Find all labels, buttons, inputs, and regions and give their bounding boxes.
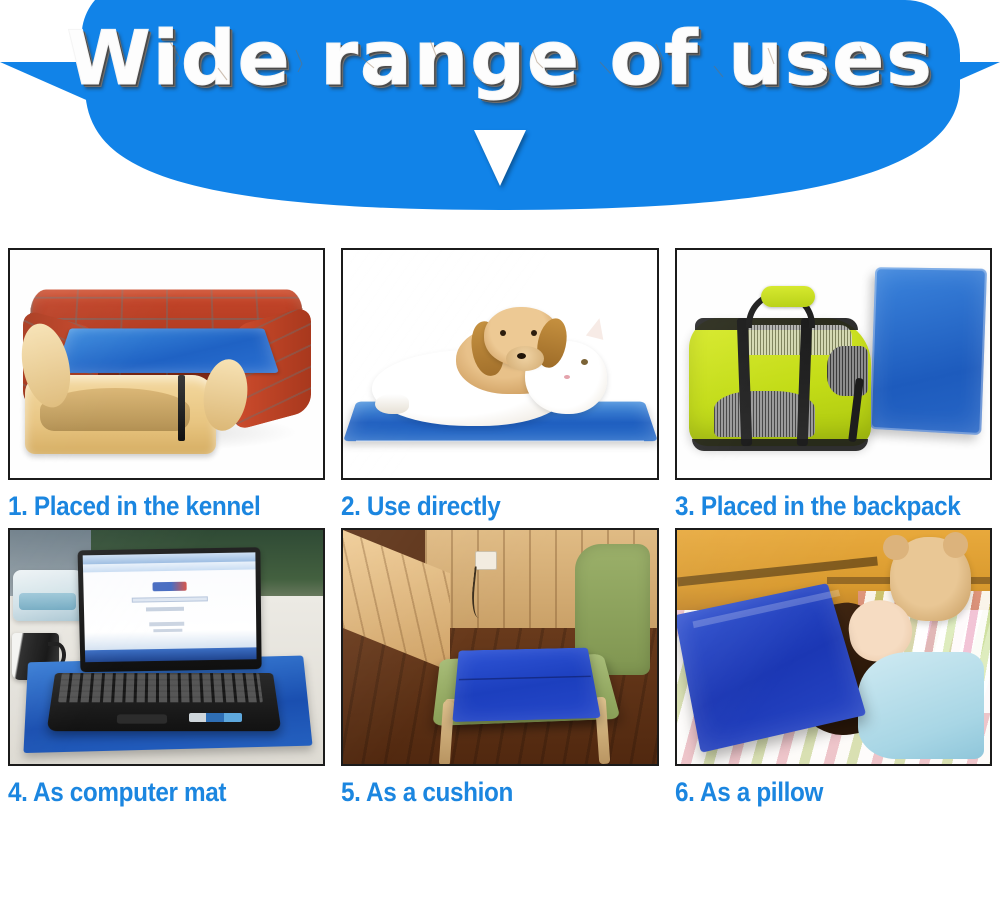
use-case-1: 1. Placed in the kennel	[0, 248, 333, 528]
use-case-3: 3. Placed in the backpack	[667, 248, 1000, 528]
cooling-mat	[452, 648, 600, 723]
grid-row-top: 1. Placed in the kennel	[0, 248, 1000, 528]
photo-laptop-mat	[8, 528, 325, 766]
photo-pet-bed-kennel	[8, 248, 325, 480]
use-case-4: 4. As computer mat	[0, 528, 333, 814]
down-triangle-icon	[474, 130, 526, 186]
use-case-2: 2. Use directly	[333, 248, 666, 528]
caption-5: 5. As a cushion	[341, 766, 627, 814]
caption-6: 6. As a pillow	[675, 766, 961, 814]
header-banner: Wide range of uses	[0, 0, 1000, 240]
caption-1: 1. Placed in the kennel	[8, 480, 294, 528]
banner-shape	[0, 0, 1000, 240]
grid-row-bottom: 4. As computer mat 5. As a c	[0, 528, 1000, 814]
caption-4: 4. As computer mat	[8, 766, 294, 814]
photo-dog-cat-on-mat	[341, 248, 658, 480]
uses-grid: 1. Placed in the kennel	[0, 248, 1000, 814]
use-case-5: 5. As a cushion	[333, 528, 666, 814]
cooling-mat	[55, 328, 278, 373]
photo-girl-pillow	[675, 528, 992, 766]
caption-3: 3. Placed in the backpack	[675, 480, 961, 528]
caption-2: 2. Use directly	[341, 480, 627, 528]
photo-carrier-backpack	[675, 248, 992, 480]
photo-chair-cushion	[341, 528, 658, 766]
use-case-6: 6. As a pillow	[667, 528, 1000, 814]
